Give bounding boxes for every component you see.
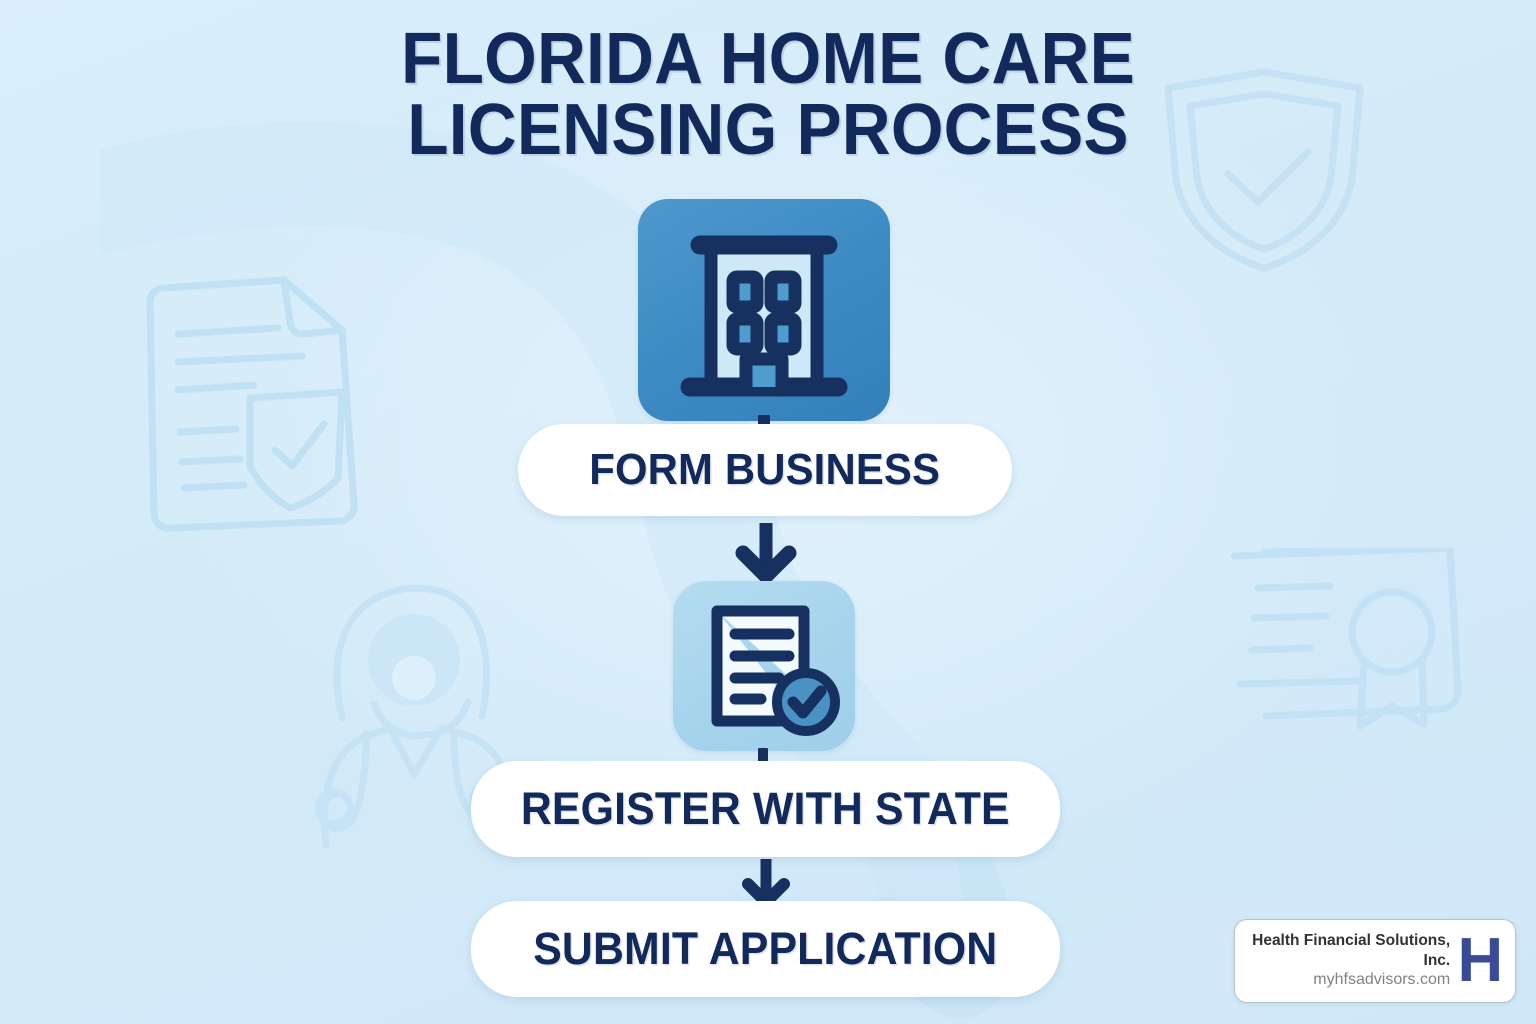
process-flow: FLORIDA HOME CARE LICENSING PROCESS FORM… <box>0 0 1536 1024</box>
document-verified-icon <box>673 581 855 751</box>
step-1-label: FORM BUSINESS <box>590 445 941 495</box>
company-website: myhfsadvisors.com <box>1249 970 1450 991</box>
step-3-label-pill[interactable]: SUBMIT APPLICATION <box>471 901 1060 997</box>
h-monogram-icon: H <box>1458 936 1504 987</box>
company-name: Health Financial Solutions, Inc. <box>1249 931 1450 970</box>
step-2-label-pill[interactable]: REGISTER WITH STATE <box>471 761 1060 857</box>
logo-text-block: Health Financial Solutions, Inc. myhfsad… <box>1249 931 1458 991</box>
arrow-down-icon <box>735 521 797 583</box>
page-title: FLORIDA HOME CARE LICENSING PROCESS <box>46 24 1490 167</box>
office-building-icon <box>638 199 890 421</box>
step-1-label-pill[interactable]: FORM BUSINESS <box>518 424 1012 516</box>
infographic-canvas: FLORIDA HOME CARE LICENSING PROCESS FORM… <box>0 0 1536 1024</box>
step-3-label: SUBMIT APPLICATION <box>533 923 997 975</box>
connector-stub-2 <box>758 748 768 762</box>
step-2-label: REGISTER WITH STATE <box>521 783 1010 835</box>
company-logo-badge[interactable]: Health Financial Solutions, Inc. myhfsad… <box>1234 919 1516 1003</box>
